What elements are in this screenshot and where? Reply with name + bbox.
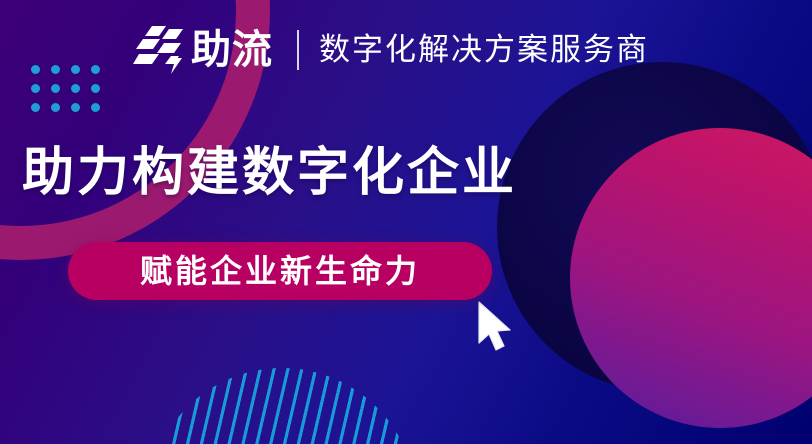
cta-button-label: 赋能企业新生命力 bbox=[140, 255, 420, 287]
promo-banner: 助流 数字化解决方案服务商 助力构建数字化企业 赋能企业新生命力 bbox=[0, 0, 812, 444]
brand-divider bbox=[297, 30, 299, 70]
cta-button[interactable]: 赋能企业新生命力 bbox=[68, 242, 492, 300]
brand-tagline: 数字化解决方案服务商 bbox=[319, 35, 649, 66]
brand-header: 助流 数字化解决方案服务商 bbox=[133, 22, 649, 78]
brand-name: 助流 bbox=[191, 30, 273, 70]
zhuliu-lightning-mark-icon bbox=[133, 25, 185, 75]
page-title: 助力构建数字化企业 bbox=[22, 146, 517, 201]
banner-content: 助流 数字化解决方案服务商 助力构建数字化企业 赋能企业新生命力 bbox=[0, 0, 812, 444]
